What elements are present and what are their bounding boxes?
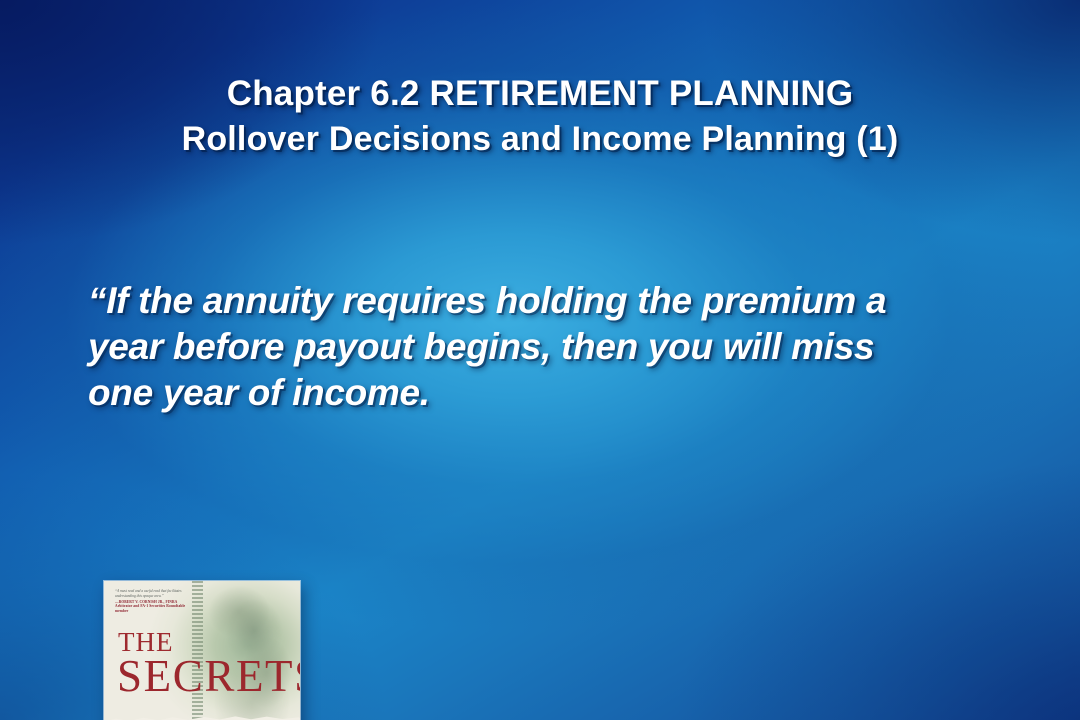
book-cover-blurb-attribution: —ROBERT V. CORNISH JR., FINRA Arbitrator… [115, 600, 189, 614]
quote-top-line-3: one year of income. [88, 370, 1018, 416]
slide-title-line-2: Rollover Decisions and Income Planning (… [0, 122, 1080, 156]
quote-paragraph-top: “If the annuity requires holding the pre… [88, 278, 1018, 416]
quote-top-line-2: year before payout begins, then you will… [88, 324, 1018, 370]
quote-top-line-1: “If the annuity requires holding the pre… [88, 278, 1018, 324]
presentation-slide: Chapter 6.2 RETIREMENT PLANNING Rollover… [0, 0, 1080, 720]
book-title-secrets: SECRETS [117, 654, 300, 699]
book-cover-blurb: “A must read and a useful read that faci… [115, 589, 189, 614]
slide-title: Chapter 6.2 RETIREMENT PLANNING Rollover… [0, 76, 1080, 156]
book-cover-blurb-quote: “A must read and a useful read that faci… [115, 589, 182, 598]
book-cover-image: “A must read and a useful read that faci… [104, 581, 300, 720]
slide-title-line-1: Chapter 6.2 RETIREMENT PLANNING [0, 76, 1080, 111]
